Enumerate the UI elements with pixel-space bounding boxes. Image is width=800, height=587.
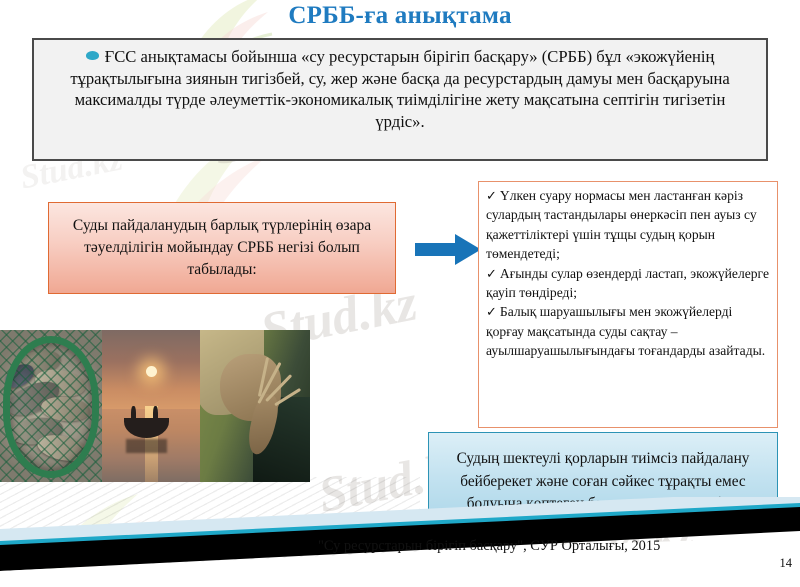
photo-strip bbox=[0, 330, 310, 482]
decorative-stripes bbox=[0, 477, 420, 587]
consequences-checklist-box: ✓Үлкен суару нормасы мен ластанған кәріз… bbox=[478, 181, 778, 428]
conclusion-box: Судың шектеулі қорларын тиімсіз пайдалан… bbox=[428, 432, 778, 532]
list-item: ✓Үлкен суару нормасы мен ластанған кәріз… bbox=[486, 186, 770, 264]
list-item: ✓Ағынды сулар өзендерді ластап, экожүйел… bbox=[486, 264, 770, 303]
watermark-hummingbird-logo-icon bbox=[10, 470, 160, 587]
deer-drinking-photo bbox=[200, 330, 310, 482]
footer-citation: "Су ресурстарын бірігіп басқару", СУР Ор… bbox=[318, 538, 770, 560]
list-item-text: Үлкен суару нормасы мен ластанған кәріз … bbox=[486, 188, 757, 261]
definition-box: ҒСС анықтамасы бойынша «су ресурстарын б… bbox=[32, 38, 768, 161]
check-icon: ✓ bbox=[486, 304, 497, 319]
conclusion-text: Судың шектеулі қорларын тиімсіз пайдалан… bbox=[437, 448, 769, 516]
page-title: СРББ-ға анықтама bbox=[0, 0, 800, 34]
fish-in-net-photo bbox=[0, 330, 102, 482]
principle-text: Суды пайдаланудың барлық түрлерінің өзар… bbox=[59, 215, 385, 281]
list-item: ✓Балық шаруашылығы мен экожүйелерді қорғ… bbox=[486, 302, 770, 360]
page-number: 14 bbox=[780, 556, 793, 571]
arrow-right-icon bbox=[415, 233, 481, 266]
slide-canvas: Stud.kz Stud.kz Stud.kz Stud.kz Stud.kz … bbox=[0, 0, 800, 587]
blue-blob-bullet-icon bbox=[86, 51, 99, 60]
sunset-boat-photo bbox=[102, 330, 200, 482]
check-icon: ✓ bbox=[486, 266, 497, 281]
check-icon: ✓ bbox=[486, 188, 497, 203]
definition-text: ҒСС анықтамасы бойынша «су ресурстарын б… bbox=[70, 47, 729, 131]
list-item-text: Ағынды сулар өзендерді ластап, экожүйеле… bbox=[486, 266, 769, 300]
list-item-text: Балық шаруашылығы мен экожүйелерді қорға… bbox=[486, 304, 765, 358]
principle-box: Суды пайдаланудың барлық түрлерінің өзар… bbox=[48, 202, 396, 294]
